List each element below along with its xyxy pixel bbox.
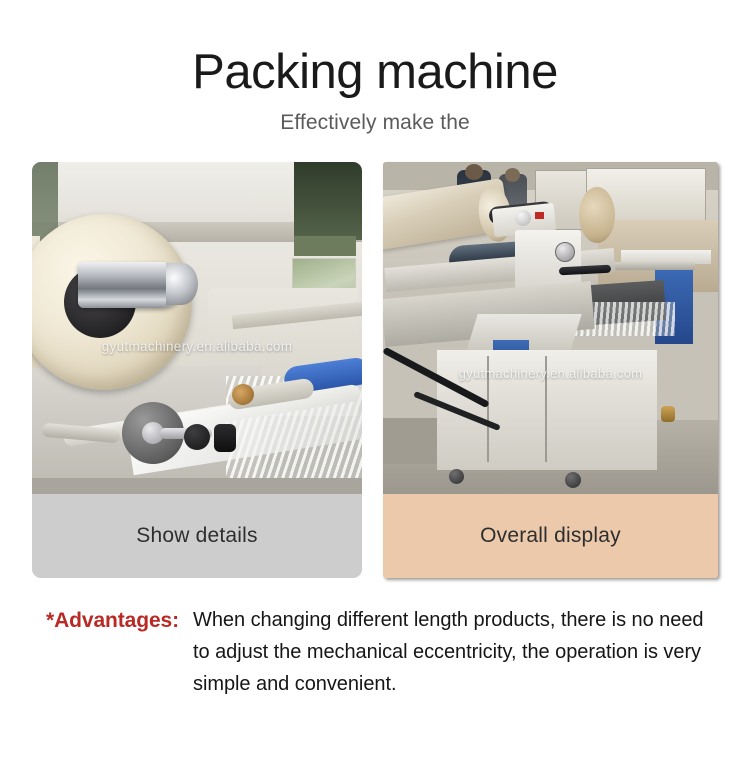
advantages-body: When changing different length products,… xyxy=(179,604,705,700)
product-detail-page: Packing machine Effectively make the xyxy=(0,0,750,759)
advantages-label: *Advantages: xyxy=(46,604,179,637)
image-card-overall-display[interactable]: gyutmachinery.en.alibaba.com Overall dis… xyxy=(383,162,718,578)
caption-show-details-label: Show details xyxy=(136,524,257,548)
page-title: Packing machine xyxy=(0,0,750,98)
caption-overall-display-label: Overall display xyxy=(480,524,621,548)
image-card-show-details[interactable]: gyutmachinery.en.alibaba.com Show detail… xyxy=(32,162,362,578)
photo-show-details: gyutmachinery.en.alibaba.com xyxy=(32,162,362,494)
image-card-row: gyutmachinery.en.alibaba.com Show detail… xyxy=(0,162,750,580)
caption-show-details: Show details xyxy=(32,494,362,578)
advantages-section: *Advantages: When changing different len… xyxy=(0,604,750,700)
page-subtitle: Effectively make the xyxy=(0,98,750,135)
photo-overall-display: gyutmachinery.en.alibaba.com xyxy=(383,162,718,494)
page-header: Packing machine Effectively make the xyxy=(0,0,750,135)
caption-overall-display: Overall display xyxy=(383,494,718,578)
